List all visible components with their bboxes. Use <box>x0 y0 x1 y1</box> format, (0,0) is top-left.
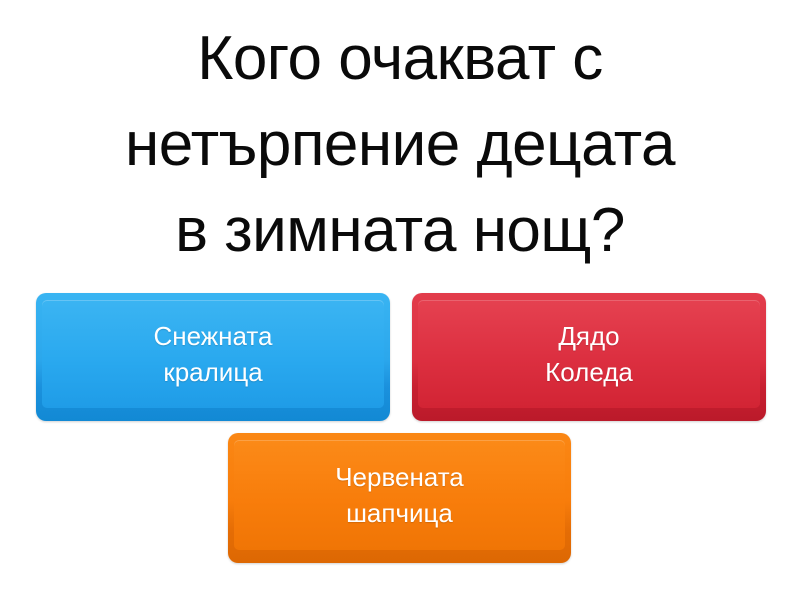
answer-option-label: Дядо Коледа <box>535 318 643 390</box>
answer-option-face: Червената шапчица <box>234 440 565 550</box>
question-area: Кого очакват с нетърпение децата в зимна… <box>0 16 800 274</box>
answer-option-face: Дядо Коледа <box>418 300 760 408</box>
question-text: Кого очакват с нетърпение децата в зимна… <box>0 16 800 274</box>
answer-option-face: Снежната кралица <box>42 300 384 408</box>
answer-option-chervenata-shapchitsa[interactable]: Червената шапчица <box>228 433 571 563</box>
answer-option-snezhnata-kralitsa[interactable]: Снежната кралица <box>36 293 390 421</box>
answer-option-label: Червената шапчица <box>325 459 474 531</box>
answer-option-label: Снежната кралица <box>143 318 282 390</box>
quiz-slide: Кого очакват с нетърпение децата в зимна… <box>0 0 800 600</box>
answer-option-dyado-koleda[interactable]: Дядо Коледа <box>412 293 766 421</box>
